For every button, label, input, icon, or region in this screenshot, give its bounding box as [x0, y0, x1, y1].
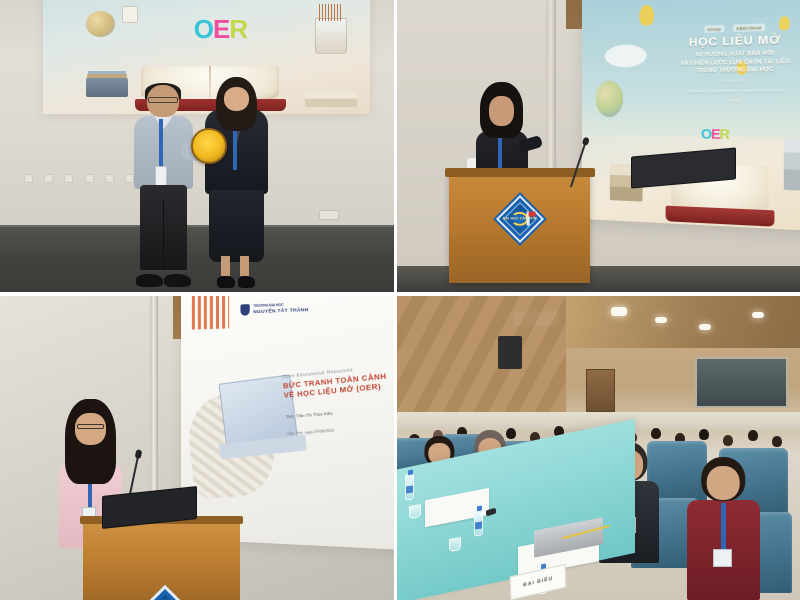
- award-plaque: [191, 128, 226, 163]
- pencil-jar-graphic: [315, 18, 348, 54]
- slide-author: ThS. Trần Thị Thúy Kiều: [285, 402, 394, 419]
- nguyen-tat-thanh-logo-icon: TRƯỜNG ĐẠI HỌC NGUYỄN TẤT THÀNH: [241, 302, 309, 316]
- slide-meta-venue: Hội trường Trung tâm Học liệu, Trường Đạ…: [659, 88, 800, 95]
- scene-presentation-opening: TRƯỜNG ĐẠI HỌC NGUYỄN TẤT THÀNH Open Edu…: [0, 296, 394, 600]
- slide-sponsor: iGroup: [659, 98, 800, 103]
- books-stack-left-graphic: [86, 78, 129, 97]
- photo-panel-podium-speaker-hoc-lieu-mo[interactable]: iGroup EBSCOhost HỌC LIỆU MỞ XU HƯỚNG XU…: [397, 0, 800, 296]
- glasses-icon: [148, 97, 178, 103]
- shield-icon: [241, 304, 250, 316]
- globe-graphic-icon: [86, 11, 115, 37]
- scene-award-presentation: Nhà tài trợ iGroup OER: [0, 0, 394, 292]
- can-tho-university-emblem-icon: [136, 585, 193, 600]
- books-stack-right-graphic: [305, 91, 357, 107]
- emblem-text-right: CẦN THƠ: [520, 217, 537, 221]
- lanyard: [498, 136, 502, 173]
- emblem-text-left: ĐẠI HỌC: [503, 217, 519, 221]
- projection-screen: TRƯỜNG ĐẠI HỌC NGUYỄN TẤT THÀNH Open Edu…: [181, 296, 394, 551]
- scene-audience-hall: ĐẠI BIỂU: [397, 296, 800, 600]
- tag-graphic-icon: [122, 6, 138, 23]
- brand-igroup: iGroup: [705, 25, 725, 33]
- university-name: NGUYỄN TẤT THÀNH: [254, 307, 309, 316]
- can-tho-university-emblem-icon: ĐẠI HỌC CẦN THƠ: [496, 195, 544, 243]
- oer-letter-o: O: [194, 16, 213, 42]
- photo-panel-podium-speaker-buc-tranh[interactable]: TRƯỜNG ĐẠI HỌC NGUYỄN TẤT THÀNH Open Edu…: [0, 296, 397, 600]
- podium: [83, 521, 241, 600]
- sponsor-label: Nhà tài trợ: [183, 0, 211, 1]
- floor-surface: [0, 225, 394, 292]
- slide-subtitle-3: TRONG TRƯỜNG ĐẠI HỌC: [659, 66, 800, 76]
- water-bottle: [405, 473, 414, 500]
- slide-meta-date: 07 / 09 / 2023: [659, 78, 800, 85]
- lanyard: [159, 119, 164, 169]
- ceiling-light: [752, 312, 764, 318]
- oer-letter-e: E: [213, 16, 229, 42]
- nguyen-tat-thanh-stripes-icon: [193, 296, 230, 329]
- oer-letter-o: O: [701, 127, 711, 141]
- photo-panel-audience-hall[interactable]: ĐẠI BIỂU: [397, 296, 800, 600]
- slide-text-block: Open Educational Resources BỨC TRANH TOÀ…: [282, 360, 394, 436]
- person-award-recipient: [134, 85, 193, 278]
- scene-podium-speaker: iGroup EBSCOhost HỌC LIỆU MỞ XU HƯỚNG XU…: [397, 0, 800, 292]
- wall-wood-panels: [397, 296, 566, 424]
- slide-title: HỌC LIỆU MỞ: [659, 33, 800, 50]
- wall-socket: [319, 210, 339, 220]
- name-badge: [155, 166, 167, 187]
- water-bottle: [474, 509, 483, 536]
- projection-screen: iGroup EBSCOhost HỌC LIỆU MỞ XU HƯỚNG XU…: [582, 0, 800, 232]
- slide-text-block: iGroup EBSCOhost HỌC LIỆU MỞ XU HƯỚNG XU…: [659, 22, 800, 102]
- ceiling-light: [655, 317, 667, 324]
- photo-collage: Nhà tài trợ iGroup OER: [0, 0, 800, 600]
- sponsor-name: iGroup: [212, 0, 231, 1]
- person-award-presenter: [205, 79, 268, 280]
- oer-letter-r: R: [229, 16, 247, 42]
- control-room-window: [695, 357, 788, 409]
- slide-place-date: Cần Thơ, ngày 07/09/2023: [287, 421, 394, 436]
- hall-door: [586, 369, 614, 412]
- oer-logo-icon: OER: [194, 16, 247, 42]
- ceiling-light: [699, 324, 711, 330]
- audience-person: [687, 457, 760, 600]
- ceiling-light: [611, 307, 627, 315]
- photo-panel-award-presentation[interactable]: Nhà tài trợ iGroup OER: [0, 0, 397, 296]
- books-stack-right-graphic: [785, 137, 800, 192]
- glasses-icon: [77, 424, 105, 428]
- wall-speaker-icon: [498, 336, 522, 369]
- oer-letter-r: R: [720, 127, 729, 141]
- podium: ĐẠI HỌC CẦN THƠ: [449, 172, 590, 283]
- brand-ebsco: EBSCOhost: [734, 24, 765, 33]
- oer-logo-icon: OER: [701, 127, 729, 141]
- slide-sponsor-line: Nhà tài trợ iGroup: [43, 0, 370, 1]
